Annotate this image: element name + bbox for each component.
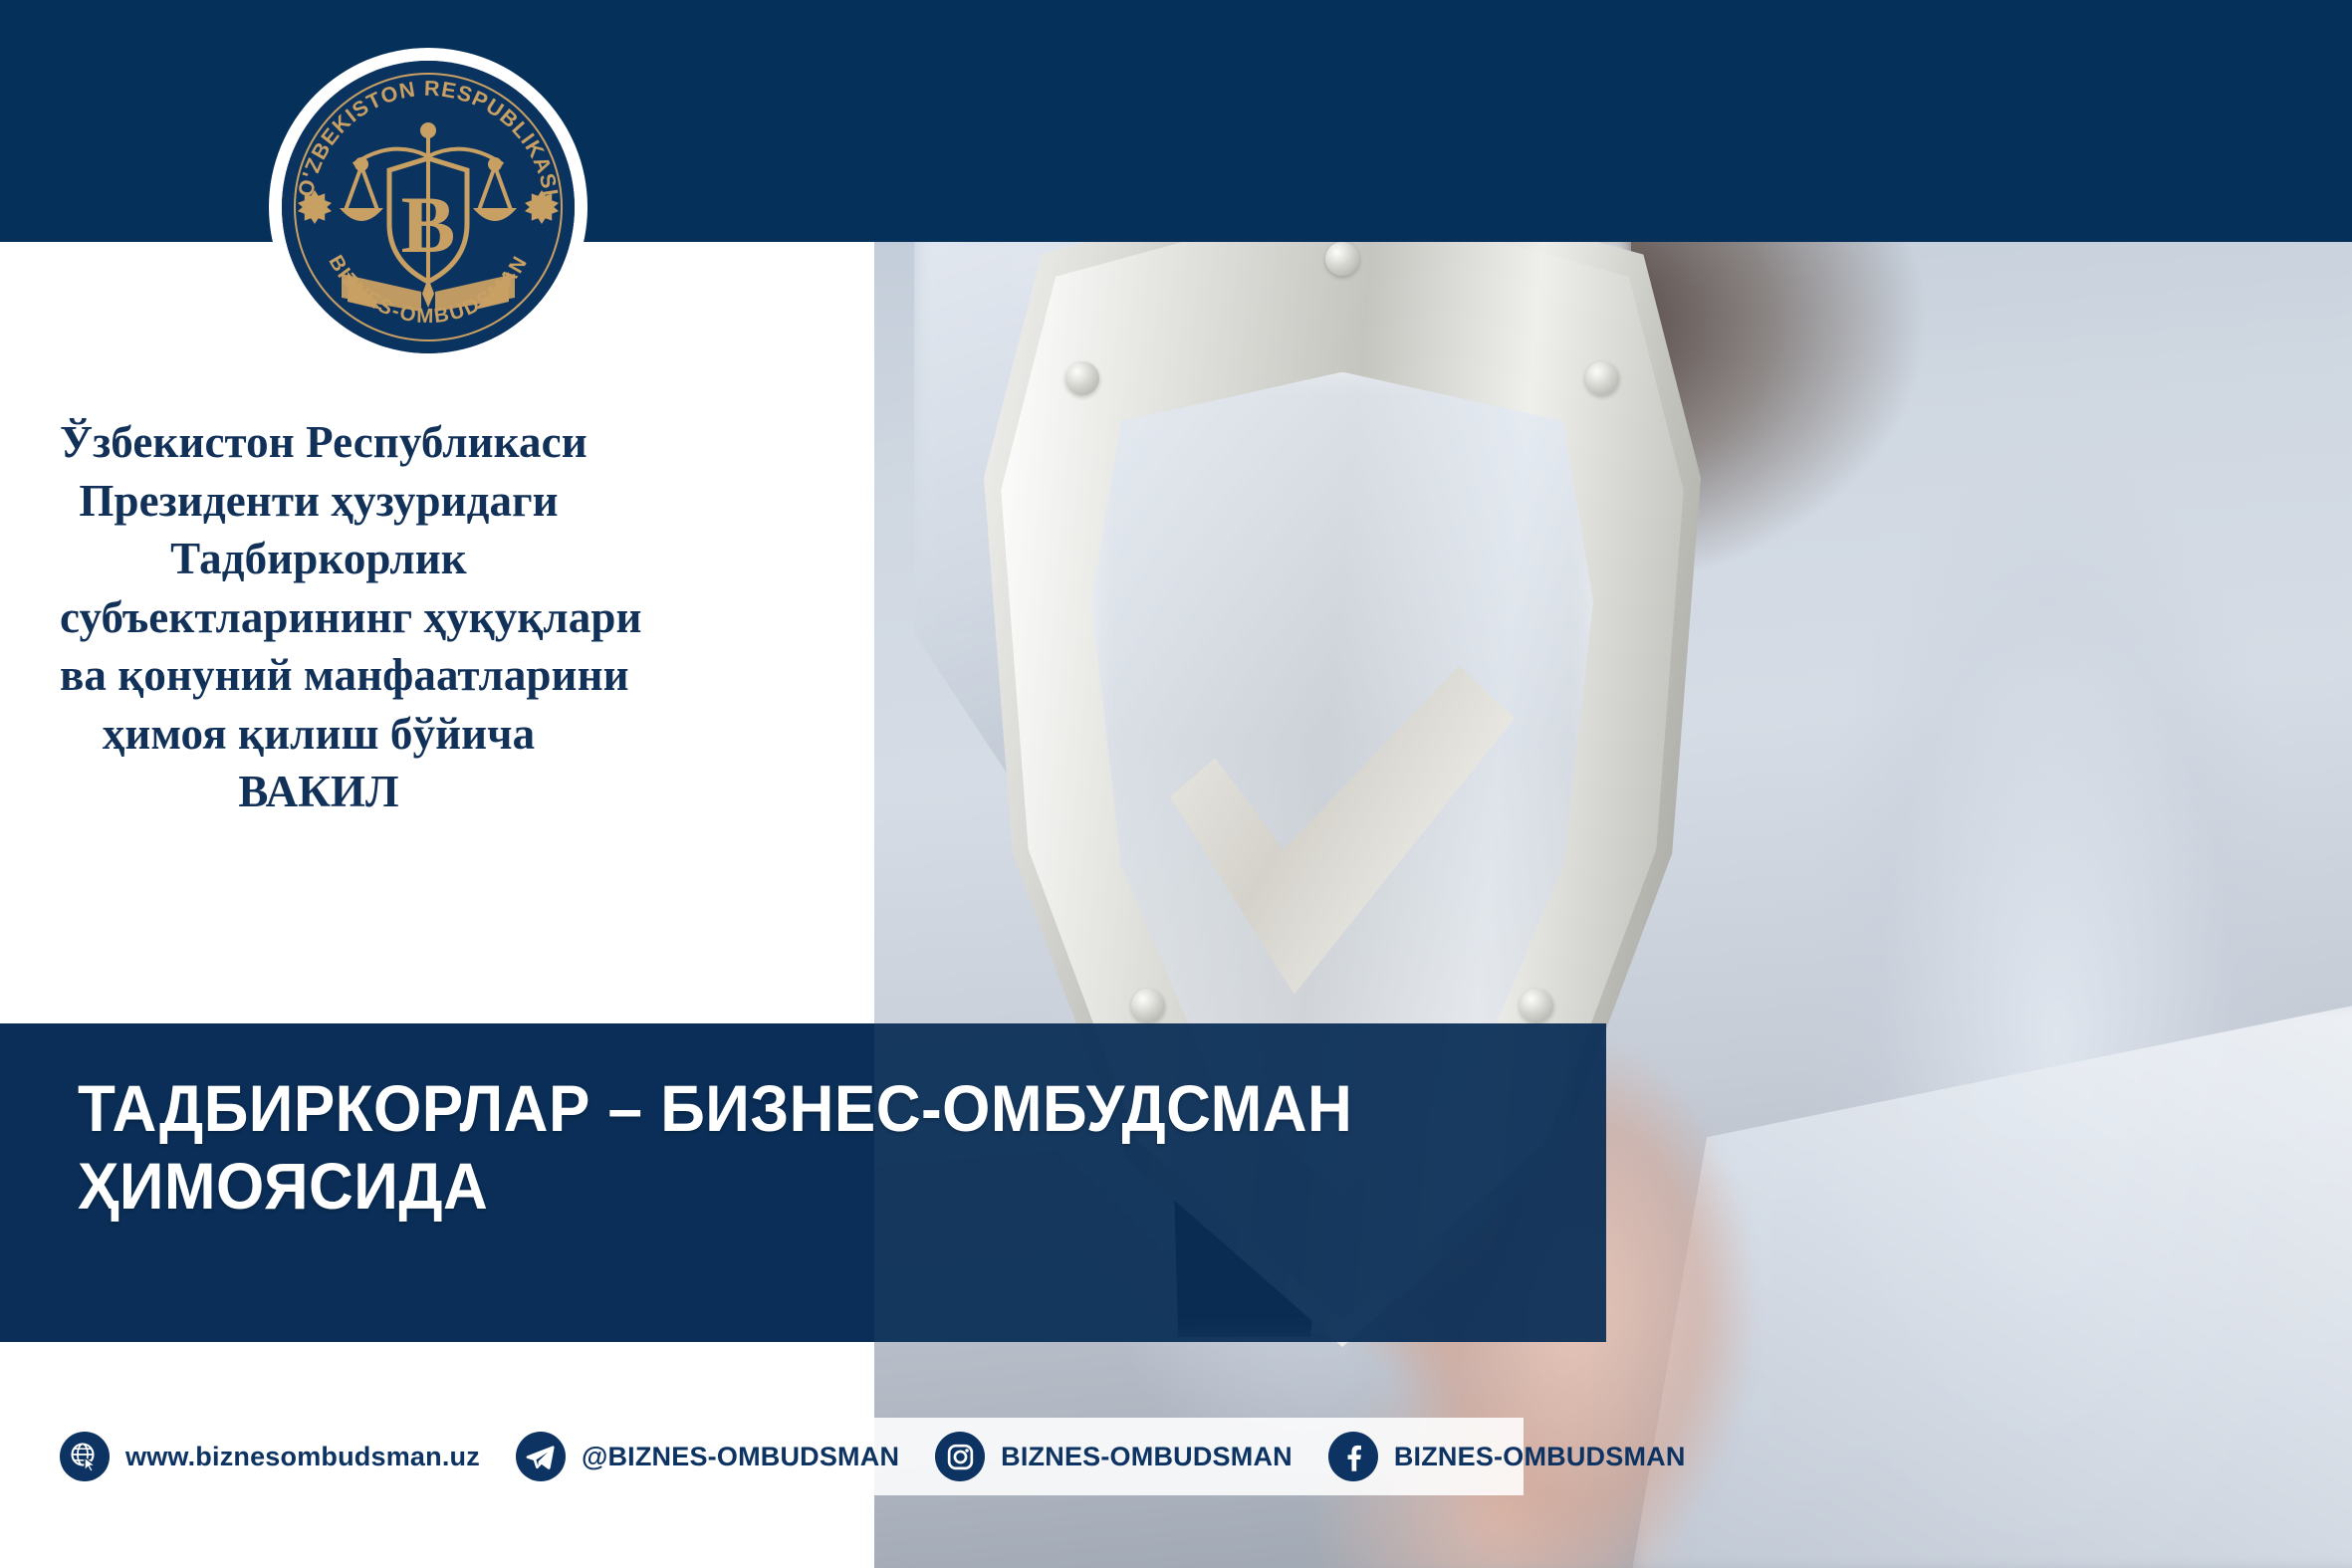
- shield-rivet: [1131, 989, 1165, 1022]
- headline-line-1: ТАДБИРКОРЛАР – БИЗНЕС-ОМБУДСМАН: [78, 1070, 1510, 1148]
- footer-label-website: www.biznesombudsman.uz: [125, 1442, 480, 1472]
- org-line: Тадбиркорлик: [60, 530, 578, 588]
- poster-root: O'ZBEKISTON RESPUBLIKASI BIZNES-OMBUDSMA…: [0, 0, 2352, 1568]
- instagram-icon: [935, 1432, 985, 1481]
- footer-label-telegram: @BIZNES-OMBUDSMAN: [582, 1442, 899, 1472]
- footer-item-facebook[interactable]: BIZNES-OMBUDSMAN: [1328, 1432, 1686, 1481]
- footer-item-website[interactable]: www.biznesombudsman.uz: [60, 1432, 480, 1481]
- telegram-icon: [516, 1432, 566, 1481]
- shield-rivet: [1585, 361, 1619, 395]
- logo-biznes-ombudsman: O'ZBEKISTON RESPUBLIKASI BIZNES-OMBUDSMA…: [269, 48, 588, 366]
- uzbek-flag-arc-icon: [339, 262, 518, 310]
- page-title: ТАДБИРКОРЛАР – БИЗНЕС-ОМБУДСМАН ҲИМОЯСИД…: [78, 1070, 1510, 1226]
- organization-name-block: Ўзбекистон Республикаси Президенти ҳузур…: [60, 413, 578, 821]
- shield-rivet: [1065, 361, 1099, 395]
- footer-item-telegram[interactable]: @BIZNES-OMBUDSMAN: [516, 1432, 899, 1481]
- shield-rivet: [1325, 242, 1359, 276]
- shield-rivet: [1520, 989, 1553, 1022]
- org-line: ҳимоя қилиш бўйича: [60, 705, 578, 764]
- background-photo: [874, 242, 2352, 1568]
- headline-line-2: ҲИМОЯСИДА: [78, 1148, 1510, 1226]
- org-line: Президенти ҳузуридаги: [60, 472, 578, 531]
- footer-contacts: www.biznesombudsman.uz @BIZNES-OMBUDSMAN…: [60, 1418, 1686, 1495]
- footer-label-facebook: BIZNES-OMBUDSMAN: [1394, 1442, 1686, 1472]
- footer-label-instagram: BIZNES-OMBUDSMAN: [1001, 1442, 1293, 1472]
- logo-disc: O'ZBEKISTON RESPUBLIKASI BIZNES-OMBUDSMA…: [282, 61, 575, 353]
- logo-emblem-graphic: B: [282, 77, 575, 369]
- org-line: ва қонуний манфаатларини: [60, 646, 578, 705]
- org-line: субъектларининг ҳуқуқлари: [60, 588, 578, 647]
- org-line: ВАКИЛ: [60, 763, 578, 821]
- svg-text:B: B: [401, 179, 456, 270]
- org-line: Ўзбекистон Республикаси: [60, 413, 578, 472]
- facebook-icon: [1328, 1432, 1378, 1481]
- globe-cursor-icon: [60, 1432, 110, 1481]
- footer-item-instagram[interactable]: BIZNES-OMBUDSMAN: [935, 1432, 1293, 1481]
